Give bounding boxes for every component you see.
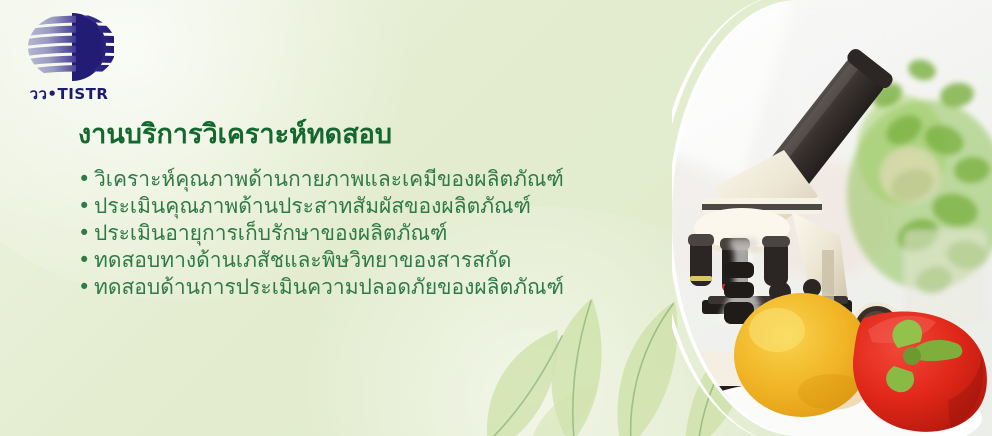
service-banner: วว•TISTR งานบริการวิเคราะห์ทดสอบ •วิเครา… [0, 0, 992, 436]
list-item: •ทดสอบทางด้านเภสัชและพิษวิทยาของสารสกัด [78, 247, 638, 274]
list-item: •ประเมินคุณภาพด้านประสาทสัมผัสของผลิตภัณ… [78, 193, 638, 220]
banner-photo [672, 0, 992, 436]
bullet-marker-icon: • [78, 274, 90, 301]
service-list: •วิเคราะห์คุณภาพด้านกายภาพและเคมีของผลิต… [78, 166, 638, 301]
bullet-marker-icon: • [78, 247, 90, 274]
page-title: งานบริการวิเคราะห์ทดสอบ [78, 118, 638, 152]
bullet-marker-icon: • [78, 220, 90, 247]
globe-icon [16, 12, 118, 82]
list-item: •ประเมินอายุการเก็บรักษาของผลิตภัณฑ์ [78, 220, 638, 247]
banner-content: งานบริการวิเคราะห์ทดสอบ •วิเคราะห์คุณภาพ… [78, 118, 638, 301]
list-item-label: ประเมินอายุการเก็บรักษาของผลิตภัณฑ์ [94, 221, 447, 245]
list-item-label: ทดสอบด้านการประเมินความปลอดภัยของผลิตภัณ… [94, 275, 564, 299]
list-item: •วิเคราะห์คุณภาพด้านกายภาพและเคมีของผลิต… [78, 166, 638, 193]
list-item-label: ประเมินคุณภาพด้านประสาทสัมผัสของผลิตภัณฑ… [94, 194, 531, 218]
tistr-logo[interactable]: วว•TISTR [16, 12, 126, 107]
laboratory-photo-illustration [672, 0, 992, 436]
list-item-label: วิเคราะห์คุณภาพด้านกายภาพและเคมีของผลิตภ… [94, 167, 564, 191]
bullet-marker-icon: • [78, 193, 90, 220]
list-item-label: ทดสอบทางด้านเภสัชและพิษวิทยาของสารสกัด [94, 248, 511, 272]
logo-wordmark: วว•TISTR [18, 82, 120, 106]
citrus-fruit [734, 293, 870, 417]
photo-clip [672, 0, 992, 436]
bullet-marker-icon: • [78, 166, 90, 193]
list-item: •ทดสอบด้านการประเมินความปลอดภัยของผลิตภั… [78, 274, 638, 301]
